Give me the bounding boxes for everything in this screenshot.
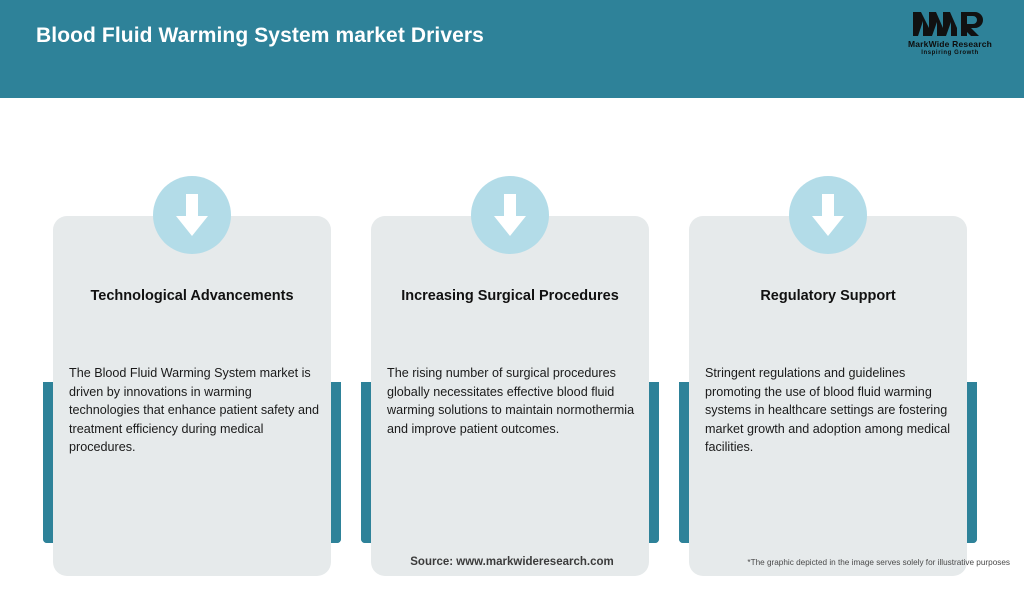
card-title: Regulatory Support	[703, 286, 953, 306]
card-description: The Blood Fluid Warming System market is…	[69, 364, 321, 457]
driver-card[interactable]: Increasing Surgical Procedures The risin…	[361, 136, 659, 598]
logo-tagline: Inspiring Growth	[894, 49, 1006, 57]
arrow-down-icon	[789, 176, 867, 254]
driver-card[interactable]: Technological Advancements The Blood Flu…	[43, 136, 341, 598]
arrow-down-icon	[471, 176, 549, 254]
logo-company-name: MarkWide Research	[894, 39, 1006, 49]
card-description: The rising number of surgical procedures…	[387, 364, 639, 438]
illustrative-disclaimer: *The graphic depicted in the image serve…	[747, 558, 1010, 567]
header-band: Blood Fluid Warming System market Driver…	[0, 0, 1024, 98]
card-title: Increasing Surgical Procedures	[385, 286, 635, 306]
driver-card[interactable]: Regulatory Support Stringent regulations…	[679, 136, 977, 598]
brand-logo: MarkWide Research Inspiring Growth	[894, 8, 1006, 60]
page-title: Blood Fluid Warming System market Driver…	[36, 24, 484, 48]
mwr-logo-icon	[912, 8, 988, 38]
card-description: Stringent regulations and guidelines pro…	[705, 364, 957, 457]
card-title: Technological Advancements	[67, 286, 317, 306]
drivers-card-row: Technological Advancements The Blood Flu…	[0, 98, 1024, 576]
arrow-down-icon	[153, 176, 231, 254]
